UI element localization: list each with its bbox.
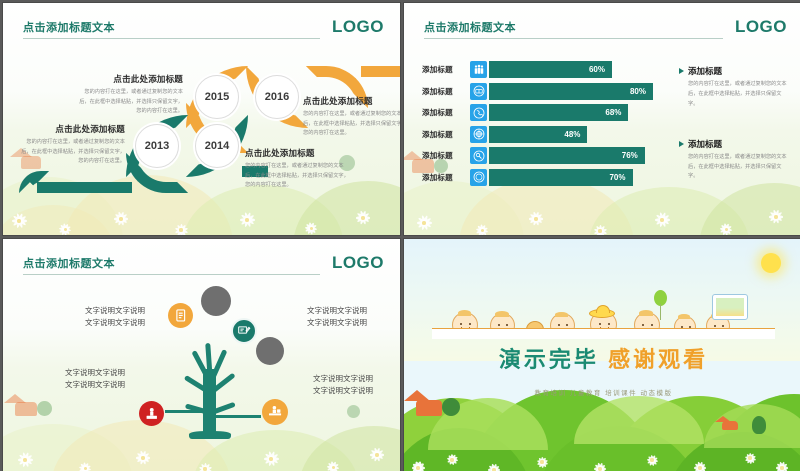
slide2-header: 点击添加标题文本 LOGO: [404, 19, 800, 45]
bar-value-label: 68%: [605, 108, 621, 117]
header-rule: [424, 38, 723, 39]
callout-heading: 点击此处添加标题: [303, 95, 401, 107]
title-part-2: 感谢观看: [608, 347, 708, 372]
bar-category-label: 添加标题: [422, 150, 470, 161]
notes-column: 添加标题 您的内容打在这里，或者通过复制您的文本后，在此框中选择粘贴，并选择只保…: [679, 65, 791, 190]
document-icon: [173, 308, 189, 324]
bar-value-label: 48%: [564, 130, 580, 139]
caption-line: 文字说明文字说明: [47, 379, 143, 391]
bar-value-label: 76%: [622, 151, 638, 160]
note-item[interactable]: 添加标题 您的内容打在这里，或者通过复制您的文本后，在此框中选择粘贴，并选择只保…: [679, 65, 791, 110]
bar-value: 70%: [489, 169, 633, 186]
slide3-header: 点击添加标题文本 LOGO: [3, 255, 400, 281]
caption-line: 文字说明文字说明: [67, 317, 163, 329]
title-part-1: 演示完毕: [499, 347, 599, 372]
timeline-node-2014[interactable]: 2014: [195, 124, 239, 168]
callout-heading: 点击此处添加标题: [75, 73, 183, 85]
timeline-year-2013: 2013: [145, 140, 169, 152]
bar-chart-row[interactable]: 添加标题80%: [422, 83, 653, 100]
tree-caption-bottom-left[interactable]: 文字说明文字说明 文字说明文字说明: [47, 367, 143, 392]
slide-tree-diagram[interactable]: 点击添加标题文本 LOGO: [2, 238, 401, 471]
bar-value-label: 70%: [609, 173, 625, 182]
bar-category-label: 添加标题: [422, 64, 470, 75]
phone-call-icon: [470, 104, 487, 121]
callout-heading: 点击此处添加标题: [245, 147, 353, 159]
caption-line: 文字说明文字说明: [67, 305, 163, 317]
timeline-callout-2014[interactable]: 点击此处添加标题 您的内容打在这里，或者通过复制您的文本后，在此框中选择粘贴，并…: [245, 147, 353, 191]
tree-caption-top-right[interactable]: 文字说明文字说明 文字说明文字说明: [289, 305, 385, 330]
tree-node-desk-worker[interactable]: [262, 399, 288, 425]
timeline-node-2015[interactable]: 2015: [195, 75, 239, 119]
logo: LOGO: [332, 17, 384, 37]
bar-chart-row[interactable]: 添加标题76%: [422, 147, 653, 164]
bar-value: 80%: [489, 83, 653, 100]
page-title: 点击添加标题文本: [424, 19, 516, 35]
bar-value: 68%: [489, 104, 628, 121]
open-book-icon: [470, 83, 487, 100]
slide-timeline[interactable]: 点击添加标题文本 LOGO 2015 2016: [2, 2, 401, 236]
slide-thank-you[interactable]: 演示完毕 感谢观看 教育培训 儿童教育 培训课件 动态模版: [403, 238, 800, 471]
bar-chart-row[interactable]: 添加标题48%: [422, 126, 653, 143]
note-heading: 添加标题: [688, 138, 722, 150]
tree-caption-bottom-right[interactable]: 文字说明文字说明 文字说明文字说明: [295, 373, 391, 398]
picture-sign-icon: [712, 294, 748, 320]
note-item[interactable]: 添加标题 您的内容打在这里，或者通过复制您的文本后，在此框中选择粘贴，并选择只保…: [679, 138, 791, 183]
triangle-bullet-icon: [679, 141, 684, 147]
callout-body: 您的内容打在这里，或者通过复制您的文本后，在此框中选择粘贴，并选择只保留文字，您…: [303, 110, 401, 139]
bar-category-label: 添加标题: [422, 172, 470, 183]
bar-chart: 添加标题60%添加标题80%添加标题68%添加标题48%添加标题76%添加标题7…: [422, 61, 653, 190]
desk-worker-icon: [267, 404, 283, 420]
kids-banner: [432, 328, 775, 339]
timeline-callout-2015[interactable]: 点击此处添加标题 您的内容打在这里，或者通过复制您的文本后，在此框中选择粘贴，并…: [75, 73, 183, 117]
bar-category-label: 添加标题: [422, 107, 470, 118]
globe-target-icon: [470, 126, 487, 143]
note-body: 您的内容打在这里，或者通过复制您的文本后，在此框中选择粘贴，并选择只保留文字。: [679, 80, 791, 110]
caption-line: 文字说明文字说明: [289, 305, 385, 317]
bar-chart-row[interactable]: 添加标题68%: [422, 104, 653, 121]
timeline-year-2014: 2014: [205, 140, 229, 152]
bar-value-label: 80%: [630, 87, 646, 96]
sun-icon: [761, 253, 781, 273]
tree-node-leaf-top[interactable]: [201, 286, 231, 316]
slide1-header: 点击添加标题文本 LOGO: [3, 19, 400, 45]
header-rule: [23, 38, 320, 39]
logo: LOGO: [332, 253, 384, 273]
tree-node-whiteboard[interactable]: [231, 318, 257, 344]
page-title: 点击添加标题文本: [23, 255, 115, 271]
timeline-node-2016[interactable]: 2016: [255, 75, 299, 119]
link-search-icon: [470, 147, 487, 164]
slide-bar-chart[interactable]: 点击添加标题文本 LOGO 添加标题60%添加标题80%添加标题68%添加标题4…: [403, 2, 800, 236]
callout-body: 您的内容打在这里，或者通过复制您的文本后，在此框中选择粘贴，并选择只保留文字，您…: [75, 88, 183, 117]
timeline-callout-2013[interactable]: 点击此处添加标题 您的内容打在这里，或者通过复制您的文本后，在此框中选择粘贴，并…: [17, 123, 125, 167]
tree-node-leaf-right[interactable]: [256, 337, 284, 365]
callout-body: 您的内容打在这里，或者通过复制您的文本后，在此框中选择粘贴，并选择只保留文字，您…: [17, 138, 125, 167]
caption-line: 文字说明文字说明: [295, 373, 391, 385]
caption-line: 文字说明文字说明: [295, 385, 391, 397]
people-group-icon: [470, 61, 487, 78]
bar-chart-row[interactable]: 添加标题70%: [422, 169, 653, 186]
tree-caption-top-left[interactable]: 文字说明文字说明 文字说明文字说明: [67, 305, 163, 330]
header-rule: [23, 274, 320, 275]
note-heading: 添加标题: [688, 65, 722, 77]
page-title: 点击添加标题文本: [23, 19, 115, 35]
thank-you-subtitle: 教育培训 儿童教育 培训课件 动态模版: [404, 387, 800, 397]
presenter-icon: [144, 406, 160, 422]
bar-value: 48%: [489, 126, 587, 143]
timeline-node-2013[interactable]: 2013: [135, 124, 179, 168]
bar-category-label: 添加标题: [422, 86, 470, 97]
triangle-bullet-icon: [679, 68, 684, 74]
whiteboard-edit-icon: [237, 324, 251, 338]
bar-category-label: 添加标题: [422, 129, 470, 140]
note-body: 您的内容打在这里，或者通过复制您的文本后，在此框中选择粘贴，并选择只保留文字。: [679, 153, 791, 183]
tree-node-document[interactable]: [168, 303, 193, 328]
caption-line: 文字说明文字说明: [47, 367, 143, 379]
thank-you-title: 演示完毕 感谢观看: [404, 342, 800, 374]
timeline-year-2015: 2015: [205, 91, 229, 103]
slide-grid: 点击添加标题文本 LOGO 2015 2016: [0, 0, 800, 471]
bar-value: 60%: [489, 61, 612, 78]
logo: LOGO: [735, 17, 787, 37]
bar-value: 76%: [489, 147, 645, 164]
tree-node-presenter[interactable]: [139, 401, 164, 426]
bar-chart-row[interactable]: 添加标题60%: [422, 61, 653, 78]
caption-line: 文字说明文字说明: [289, 317, 385, 329]
timeline-year-2016: 2016: [265, 91, 289, 103]
callout-heading: 点击此处添加标题: [17, 123, 125, 135]
compass-clock-icon: [470, 169, 487, 186]
timeline-callout-2016[interactable]: 点击此处添加标题 您的内容打在这里，或者通过复制您的文本后，在此框中选择粘贴，并…: [303, 95, 401, 139]
bar-value-label: 60%: [589, 65, 605, 74]
callout-body: 您的内容打在这里，或者通过复制您的文本后，在此框中选择粘贴，并选择只保留文字，您…: [245, 162, 353, 191]
